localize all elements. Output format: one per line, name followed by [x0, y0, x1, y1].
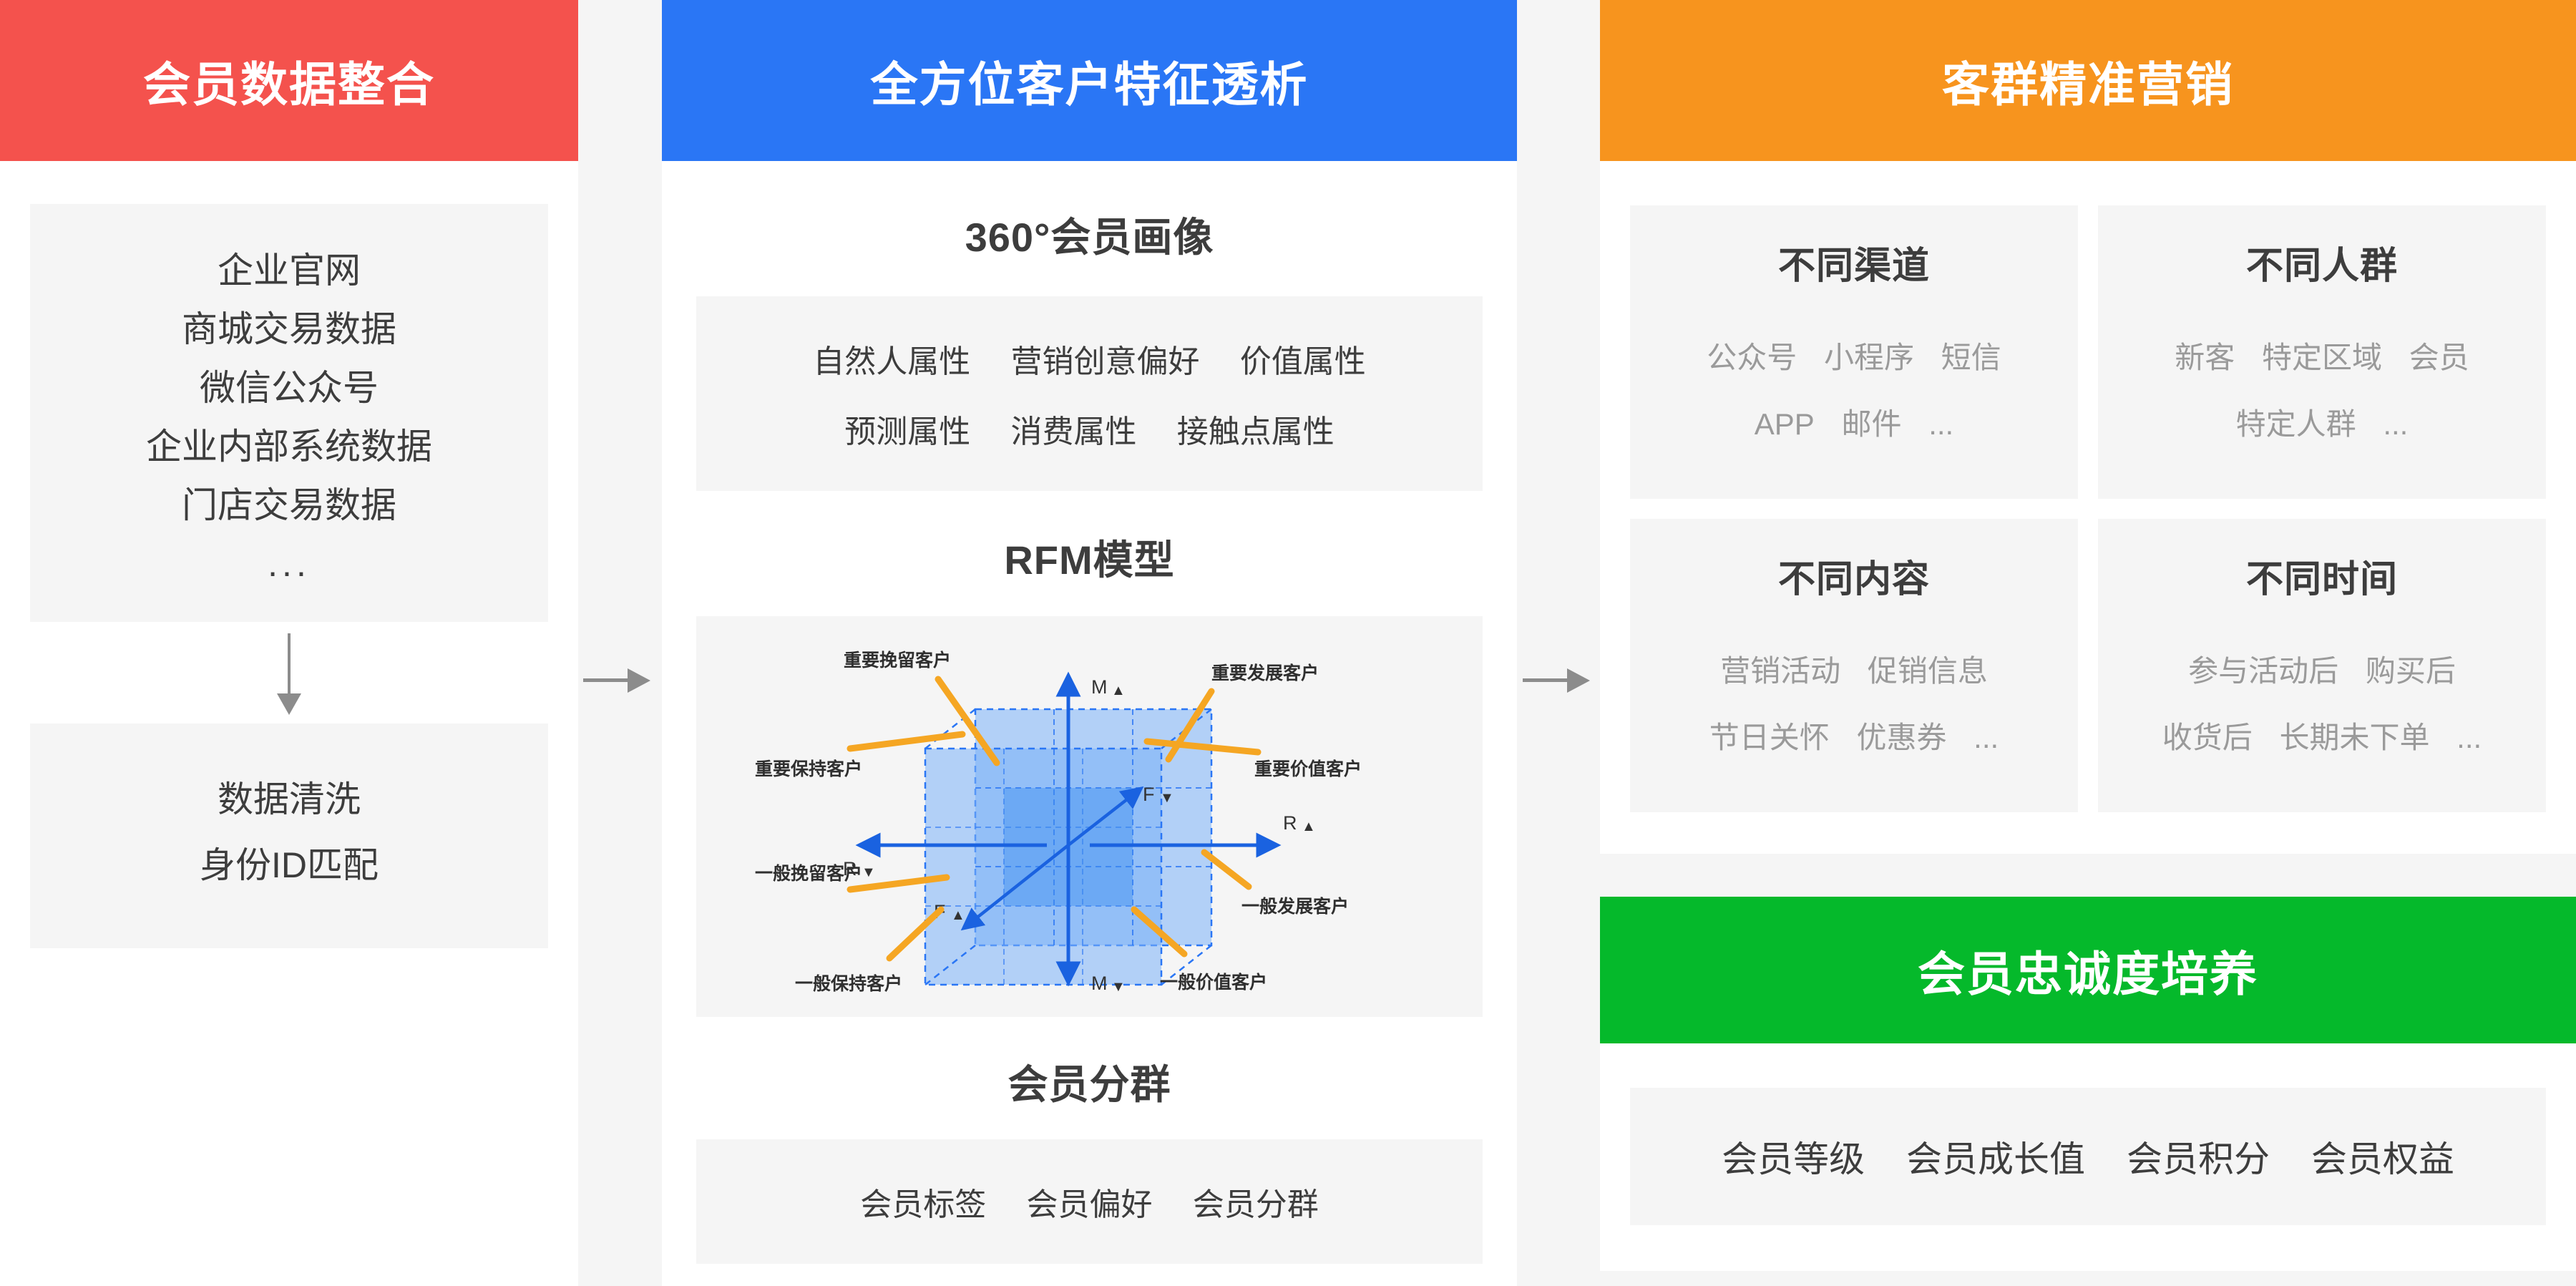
card-row: 节日关怀 优惠券 ... [1649, 702, 2059, 769]
portrait-tag-row-1: 自然人属性 营销创意偏好 价值属性 [715, 323, 1464, 394]
data-source-item: 企业官网 [30, 241, 548, 300]
card-tag: 会员 [2409, 341, 2469, 374]
rfm-segment-label: 一般保持客户 [795, 973, 902, 994]
card-tag: 特定人群 [2236, 407, 2356, 441]
card-title: 不同内容 [1649, 549, 2059, 603]
header-data-integration: 会员数据整合 [0, 0, 578, 161]
segment-title: 会员分群 [696, 1053, 1483, 1111]
data-source-item: 门店交易数据 [30, 476, 548, 535]
loyalty-tags-panel: 会员等级 会员成长值 会员积分 会员权益 [1630, 1088, 2546, 1225]
card-tag: 促销信息 [1868, 654, 1988, 688]
card-tag: 长期未下单 [2279, 721, 2429, 754]
arrow-down-icon [30, 622, 548, 724]
card-row: 收货后 长期未下单 ... [2117, 702, 2527, 769]
card-title: 不同人群 [2117, 235, 2527, 289]
marketing-card-timing: 不同时间 参与活动后 购买后 收货后 长期未下单 ... [2098, 519, 2546, 812]
loyalty-tag: 会员成长值 [1906, 1139, 2085, 1179]
svg-text:▲: ▲ [1111, 683, 1126, 698]
rfm-segment-label: 重要价值客户 [1254, 759, 1362, 779]
marketing-card-audience: 不同人群 新客 特定区域 会员 特定人群 ... [2098, 205, 2546, 499]
rfm-cube-panel: M ▲ M ▼ R ▲ R ▼ F ▼ F ▲ [696, 616, 1483, 1017]
data-source-item: 企业内部系统数据 [30, 417, 548, 476]
axis-label-m-down: M [1091, 973, 1108, 994]
card-tag: 节日关怀 [1709, 721, 1830, 754]
card-row: 公众号 小程序 短信 [1649, 322, 2059, 389]
segment-tags-panel: 会员标签 会员偏好 会员分群 [696, 1139, 1483, 1264]
arrow-right-icon-1 [583, 666, 652, 694]
axis-label-f-down: F [1143, 784, 1155, 805]
data-source-ellipsis: ... [30, 535, 548, 585]
data-source-item: 商城交易数据 [30, 300, 548, 359]
card-tag-ellipsis: ... [1974, 721, 1999, 754]
card-tag: 购买后 [2366, 654, 2456, 688]
portrait-tag: 自然人属性 [813, 344, 970, 379]
loyalty-block: 会员忠诚度培养 会员等级 会员成长值 会员积分 会员权益 [1600, 897, 2576, 1271]
card-tag-ellipsis: ... [2457, 721, 2482, 754]
card-title: 不同渠道 [1649, 235, 2059, 289]
loyalty-tag: 会员等级 [1722, 1139, 1865, 1179]
portrait-tag: 价值属性 [1240, 344, 1366, 379]
data-processing-panel: 数据清洗 身份ID匹配 [30, 724, 548, 948]
card-tag: 新客 [2175, 341, 2235, 374]
column-data-integration: 会员数据整合 企业官网 商城交易数据 微信公众号 企业内部系统数据 门店交易数据… [0, 0, 578, 1286]
marketing-card-content: 不同内容 营销活动 促销信息 节日关怀 优惠券 ... [1630, 519, 2078, 812]
marketing-card-channel: 不同渠道 公众号 小程序 短信 APP 邮件 ... [1630, 205, 2078, 499]
rfm-segment-label: 一般发展客户 [1241, 896, 1349, 917]
card-tag: 公众号 [1707, 341, 1797, 374]
data-sources-panel: 企业官网 商城交易数据 微信公众号 企业内部系统数据 门店交易数据 ... [30, 204, 548, 622]
rfm-segment-label: 一般挽留客户 [755, 863, 862, 884]
header-customer-insight: 全方位客户特征透析 [662, 0, 1517, 161]
card-tag: 优惠券 [1856, 721, 1946, 754]
portrait-tag: 消费属性 [1011, 414, 1137, 449]
card-tag: 短信 [1941, 341, 2001, 374]
rfm-segment-label: 重要挽留客户 [844, 650, 951, 671]
card-tag: 小程序 [1824, 341, 1914, 374]
card-tag: 特定区域 [2262, 341, 2382, 374]
portrait-tag: 营销创意偏好 [1011, 344, 1200, 379]
card-tag: 收货后 [2162, 721, 2253, 754]
loyalty-tag-row: 会员等级 会员成长值 会员积分 会员权益 [1644, 1131, 2532, 1182]
processing-item: 数据清洗 [30, 766, 548, 832]
rfm-segment-label: 一般价值客户 [1160, 972, 1267, 993]
axis-label-r-up: R [1283, 812, 1297, 834]
column-customer-insight: 全方位客户特征透析 360°会员画像 自然人属性 营销创意偏好 价值属性 预测属… [662, 0, 1517, 1286]
svg-text:▲: ▲ [951, 907, 965, 923]
loyalty-tag: 会员积分 [2127, 1139, 2270, 1179]
card-title: 不同时间 [2117, 549, 2527, 603]
marketing-cards-grid: 不同渠道 公众号 小程序 短信 APP 邮件 ... 不同人群 [1600, 161, 2576, 812]
card-tag-ellipsis: ... [2383, 407, 2408, 441]
portrait-tag: 接触点属性 [1177, 414, 1335, 449]
svg-text:▼: ▼ [1111, 979, 1126, 995]
segment-tag: 会员偏好 [1027, 1187, 1153, 1222]
portrait-tag-row-2: 预测属性 消费属性 接触点属性 [715, 394, 1464, 464]
precision-marketing-block: 客群精准营销 不同渠道 公众号 小程序 短信 APP 邮件 ... [1600, 0, 2576, 854]
column1-body: 企业官网 商城交易数据 微信公众号 企业内部系统数据 门店交易数据 ... 数据… [0, 204, 578, 948]
svg-text:▼: ▼ [862, 864, 876, 880]
column-precision-marketing: 客群精准营销 不同渠道 公众号 小程序 短信 APP 邮件 ... [1600, 0, 2576, 1286]
column2-body: 360°会员画像 自然人属性 营销创意偏好 价值属性 预测属性 消费属性 接触点… [662, 205, 1517, 1264]
rfm-cube-chart: M ▲ M ▼ R ▲ R ▼ F ▼ F ▲ [711, 623, 1469, 1010]
card-row: 新客 特定区域 会员 [2117, 322, 2527, 389]
arrow-right-icon-2 [1523, 666, 1591, 694]
card-row: 营销活动 促销信息 [1649, 635, 2059, 702]
svg-text:▼: ▼ [1160, 790, 1174, 806]
header-loyalty: 会员忠诚度培养 [1600, 897, 2576, 1043]
svg-text:▲: ▲ [1302, 819, 1316, 834]
segment-tag-row: 会员标签 会员偏好 会员分群 [715, 1166, 1464, 1237]
rfm-title: RFM模型 [696, 528, 1483, 586]
card-tag-ellipsis: ... [1928, 407, 1953, 441]
card-tag: APP [1755, 407, 1815, 441]
segment-tag: 会员标签 [860, 1187, 986, 1222]
header-precision-marketing: 客群精准营销 [1600, 0, 2576, 161]
card-row: 参与活动后 购买后 [2117, 635, 2527, 702]
rfm-segment-label: 重要发展客户 [1211, 663, 1319, 683]
loyalty-tag: 会员权益 [2311, 1139, 2454, 1179]
diagram-canvas: 会员数据整合 企业官网 商城交易数据 微信公众号 企业内部系统数据 门店交易数据… [0, 0, 2576, 1286]
card-tag: 邮件 [1842, 407, 1902, 441]
data-source-item: 微信公众号 [30, 359, 548, 417]
portrait-tags-panel: 自然人属性 营销创意偏好 价值属性 预测属性 消费属性 接触点属性 [696, 296, 1483, 491]
card-tag: 参与活动后 [2188, 654, 2338, 688]
segment-tag: 会员分群 [1193, 1187, 1319, 1222]
card-row: 特定人群 ... [2117, 389, 2527, 455]
card-tag: 营销活动 [1720, 654, 1840, 688]
card-row: APP 邮件 ... [1649, 389, 2059, 455]
rfm-segment-label: 重要保持客户 [755, 759, 862, 779]
processing-item: 身份ID匹配 [30, 832, 548, 898]
axis-label-m-up: M [1091, 676, 1108, 698]
portrait-title: 360°会员画像 [696, 205, 1483, 263]
portrait-tag: 预测属性 [844, 414, 970, 449]
